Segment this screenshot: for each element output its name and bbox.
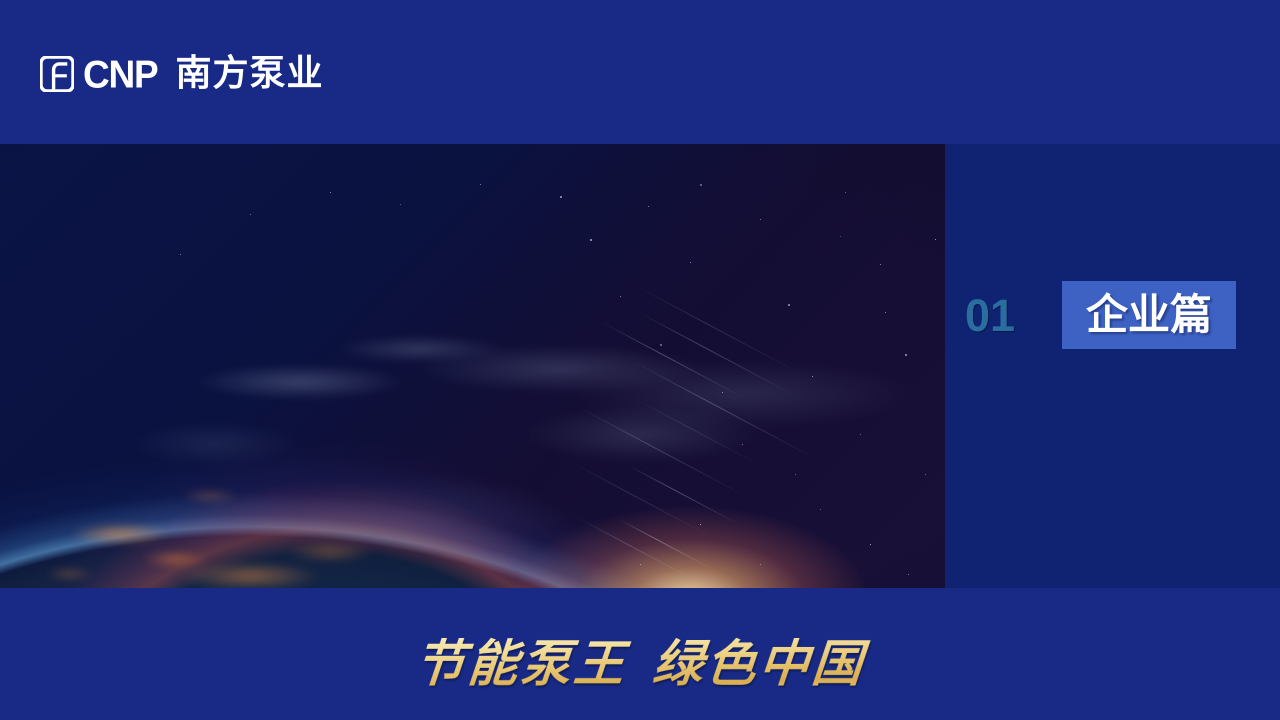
section-title: 企业篇 <box>1086 294 1212 336</box>
brand-logo[interactable]: CNP 南方泵业 <box>40 50 324 98</box>
header-band: CNP 南方泵业 <box>0 0 1280 141</box>
brand-latin-text: CNP <box>83 54 158 93</box>
section-heading: 01 企业篇 <box>945 278 1280 352</box>
hero-image-panel <box>0 144 945 588</box>
earth-from-space-image <box>0 144 945 588</box>
brand-chinese-text: 南方泵业 <box>176 56 324 92</box>
section-panel <box>945 144 1280 588</box>
slogan-part-2: 绿色中国 <box>650 634 867 693</box>
footer-slogan: 节能泵王绿色中国 <box>0 636 1280 691</box>
cnp-logo-mark-icon <box>40 56 74 92</box>
section-number: 01 <box>965 293 1015 338</box>
section-title-highlight-box: 企业篇 <box>1062 281 1236 349</box>
slide-canvas: CNP 南方泵业 01 企业篇 节能泵王绿色中国 <box>0 0 1280 720</box>
slogan-part-1: 节能泵王 <box>412 634 629 693</box>
